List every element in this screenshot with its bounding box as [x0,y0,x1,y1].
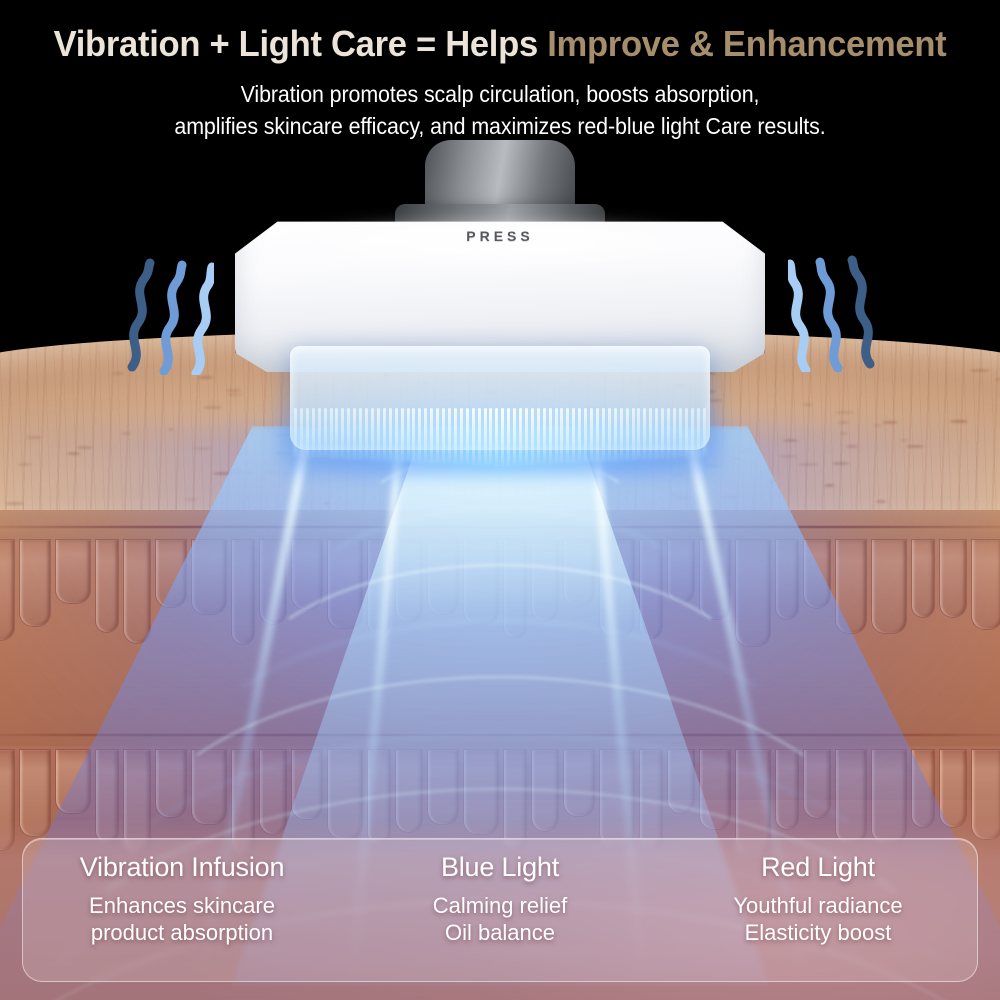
applicator-tooth [572,408,575,463]
rete-ridge [396,540,422,622]
applicator-tooth [578,408,581,462]
page-title: Vibration + Light Care = Helps Improve &… [20,0,980,62]
applicator-tooth [566,408,569,463]
applicator-tooth [637,408,640,459]
applicator-tooth [495,408,498,466]
rete-ridge [564,540,594,606]
applicator-tooth [460,408,463,464]
rete-ridge [504,540,526,638]
applicator-tooth [478,408,481,465]
infographic-stage: PRESS Vibration + Light Care = Helps Imp… [0,0,1000,1000]
applicator-tooth [371,408,374,460]
rete-ridge [972,540,1000,629]
rete-ridge-band-upper [0,540,1000,652]
rete-ridge [872,750,906,843]
vibration-waves-right-icon [788,252,884,377]
applicator-tooth [365,408,368,459]
applicator-tooth [584,408,587,462]
applicator-tooth [300,408,303,456]
rete-ridge [640,540,662,638]
benefit-desc-line-1: Youthful radiance [659,893,977,920]
applicator-tooth [436,408,439,463]
rete-ridge [328,540,362,628]
skin-divider-line [0,526,1000,528]
applicator-tooth [537,408,540,464]
page-subtitle: Vibration promotes scalp circulation, bo… [35,79,965,142]
rete-ridge [232,540,254,644]
benefit-description: Enhances skincare product absorption [23,893,341,947]
rete-ridge [192,540,226,614]
rete-ridge [464,540,498,624]
applicator-tooth [513,408,516,465]
rete-ridge [872,540,906,633]
benefit-column-vibration: Vibration Infusion Enhances skincare pro… [23,839,341,946]
rete-ridge [700,750,730,829]
applicator-tooth [395,408,398,461]
applicator-tooth [614,408,617,461]
rete-ridge [0,750,14,850]
applicator-tooth [596,408,599,461]
benefit-description: Youthful radiance Elasticity boost [659,893,977,947]
applicator-tooth [347,408,350,459]
applicator-tooth [555,408,558,463]
rete-ridge [156,750,186,817]
applicator-tooth [661,408,664,458]
applicator-tooth [489,408,492,465]
rete-ridge [0,540,14,640]
applicator-tooth [359,408,362,459]
subtitle-line-1: Vibration promotes scalp circulation, bo… [35,79,965,111]
applicator-tooth [602,408,605,461]
rete-ridge [640,750,662,848]
rete-ridge [292,750,322,819]
rete-ridge [124,540,150,643]
applicator-tooth [620,408,623,460]
applicator-tooth [306,408,309,457]
rete-ridge [668,540,694,603]
applicator-tooth [703,408,706,456]
benefit-desc-line-1: Enhances skincare [23,893,341,920]
rete-ridge [96,540,118,632]
applicator-tooth [335,408,338,458]
vibration-waves-left-icon [118,255,214,380]
rete-ridge [600,750,634,846]
rete-ridge [192,750,226,824]
rete-ridge [532,750,558,831]
rete-ridge [776,540,798,619]
applicator-tooth [466,408,469,464]
rete-ridge [504,750,526,848]
rete-ridge [96,750,118,842]
benefit-title: Blue Light [341,853,659,883]
headline-gold-part: Improve & Enhancement [547,23,946,64]
applicator-tooth [324,408,327,457]
rete-ridge [396,750,422,832]
applicator-tooth [430,408,433,463]
rete-ridge [972,750,1000,839]
applicator-tooth [412,408,415,462]
rete-ridge [804,750,830,818]
applicator-tooth [560,408,563,463]
benefit-title: Vibration Infusion [23,853,341,883]
applicator-tooth [655,408,658,459]
applicator-tooth [685,408,688,457]
applicator-tooth [353,408,356,459]
rete-ridge [668,750,694,813]
applicator-tooth [643,408,646,459]
applicator-tooth [525,408,528,465]
applicator-tooth [507,408,510,466]
applicator-tooth [608,408,611,461]
applicator-tooth [341,408,344,458]
rete-ridge [836,750,866,843]
applicator-tooth [484,408,487,465]
applicator-tooth [531,408,534,465]
rete-ridge [600,540,634,636]
applicator-tooth [673,408,676,458]
applicator-tooth [312,408,315,457]
applicator-tooth [632,408,635,460]
applicator-tooth [667,408,670,458]
benefit-desc-line-2: Oil balance [341,920,659,947]
applicator-tooth [407,408,410,461]
applicator-tooth [377,408,380,460]
applicator-tooth [442,408,445,463]
benefits-card: Vibration Infusion Enhances skincare pro… [22,838,978,982]
rete-ridge [464,750,498,834]
rete-ridge [912,540,934,617]
applicator-tooth [501,408,504,466]
benefit-column-red-light: Red Light Youthful radiance Elasticity b… [659,839,977,946]
benefit-title: Red Light [659,853,977,883]
rete-ridge [56,540,90,603]
applicator-tooth [691,408,694,457]
rete-ridge [700,540,730,619]
rete-ridge [56,750,90,813]
applicator-tooth [383,408,386,460]
rete-ridge [156,540,186,607]
rete-ridge [260,540,286,624]
applicator-teeth [294,408,706,466]
rete-ridge [836,540,866,633]
benefit-desc-line-2: product absorption [23,920,341,947]
rete-ridge [428,540,458,614]
rete-ridge [368,540,390,634]
rete-ridge [940,540,966,617]
benefit-desc-line-1: Calming relief [341,893,659,920]
applicator-tooth [294,408,297,456]
applicator-tooth [590,408,593,462]
rete-ridge [328,750,362,838]
applicator-tooth [330,408,333,458]
benefit-description: Calming relief Oil balance [341,893,659,947]
rete-ridge [20,540,50,626]
rete-ridge [292,540,322,609]
press-button-label: PRESS [466,228,533,244]
benefit-column-blue-light: Blue Light Calming relief Oil balance [341,839,659,946]
header: Vibration + Light Care = Helps Improve &… [0,0,1000,142]
rete-ridge [804,540,830,608]
device-illustration: PRESS [220,150,780,470]
headline-white-part: Vibration + Light Care = Helps [54,23,548,64]
applicator-tooth [424,408,427,462]
applicator-tooth [472,408,475,465]
rete-ridge [940,750,966,827]
skin-divider-line [0,734,1000,736]
rete-ridge [776,750,798,829]
rete-ridge [564,750,594,816]
applicator-tooth [389,408,392,461]
rete-ridge [532,540,558,621]
applicator-tooth [519,408,522,465]
applicator-tooth [679,408,682,457]
applicator-tooth [549,408,552,464]
applicator-tooth [697,408,700,457]
applicator-tooth [401,408,404,461]
rete-ridge [260,750,286,834]
subtitle-line-2: amplifies skincare efficacy, and maximiz… [35,111,965,143]
applicator-tooth [318,408,321,457]
benefit-desc-line-2: Elasticity boost [659,920,977,947]
rete-ridge [912,750,934,827]
applicator-tooth [418,408,421,462]
applicator-tooth [448,408,451,463]
rete-ridge [20,750,50,836]
rete-ridge [736,540,770,646]
applicator-tooth [543,408,546,464]
rete-ridge [368,750,390,844]
rete-ridge [428,750,458,824]
applicator-tooth [649,408,652,459]
applicator-tooth [454,408,457,464]
applicator-tooth [626,408,629,460]
